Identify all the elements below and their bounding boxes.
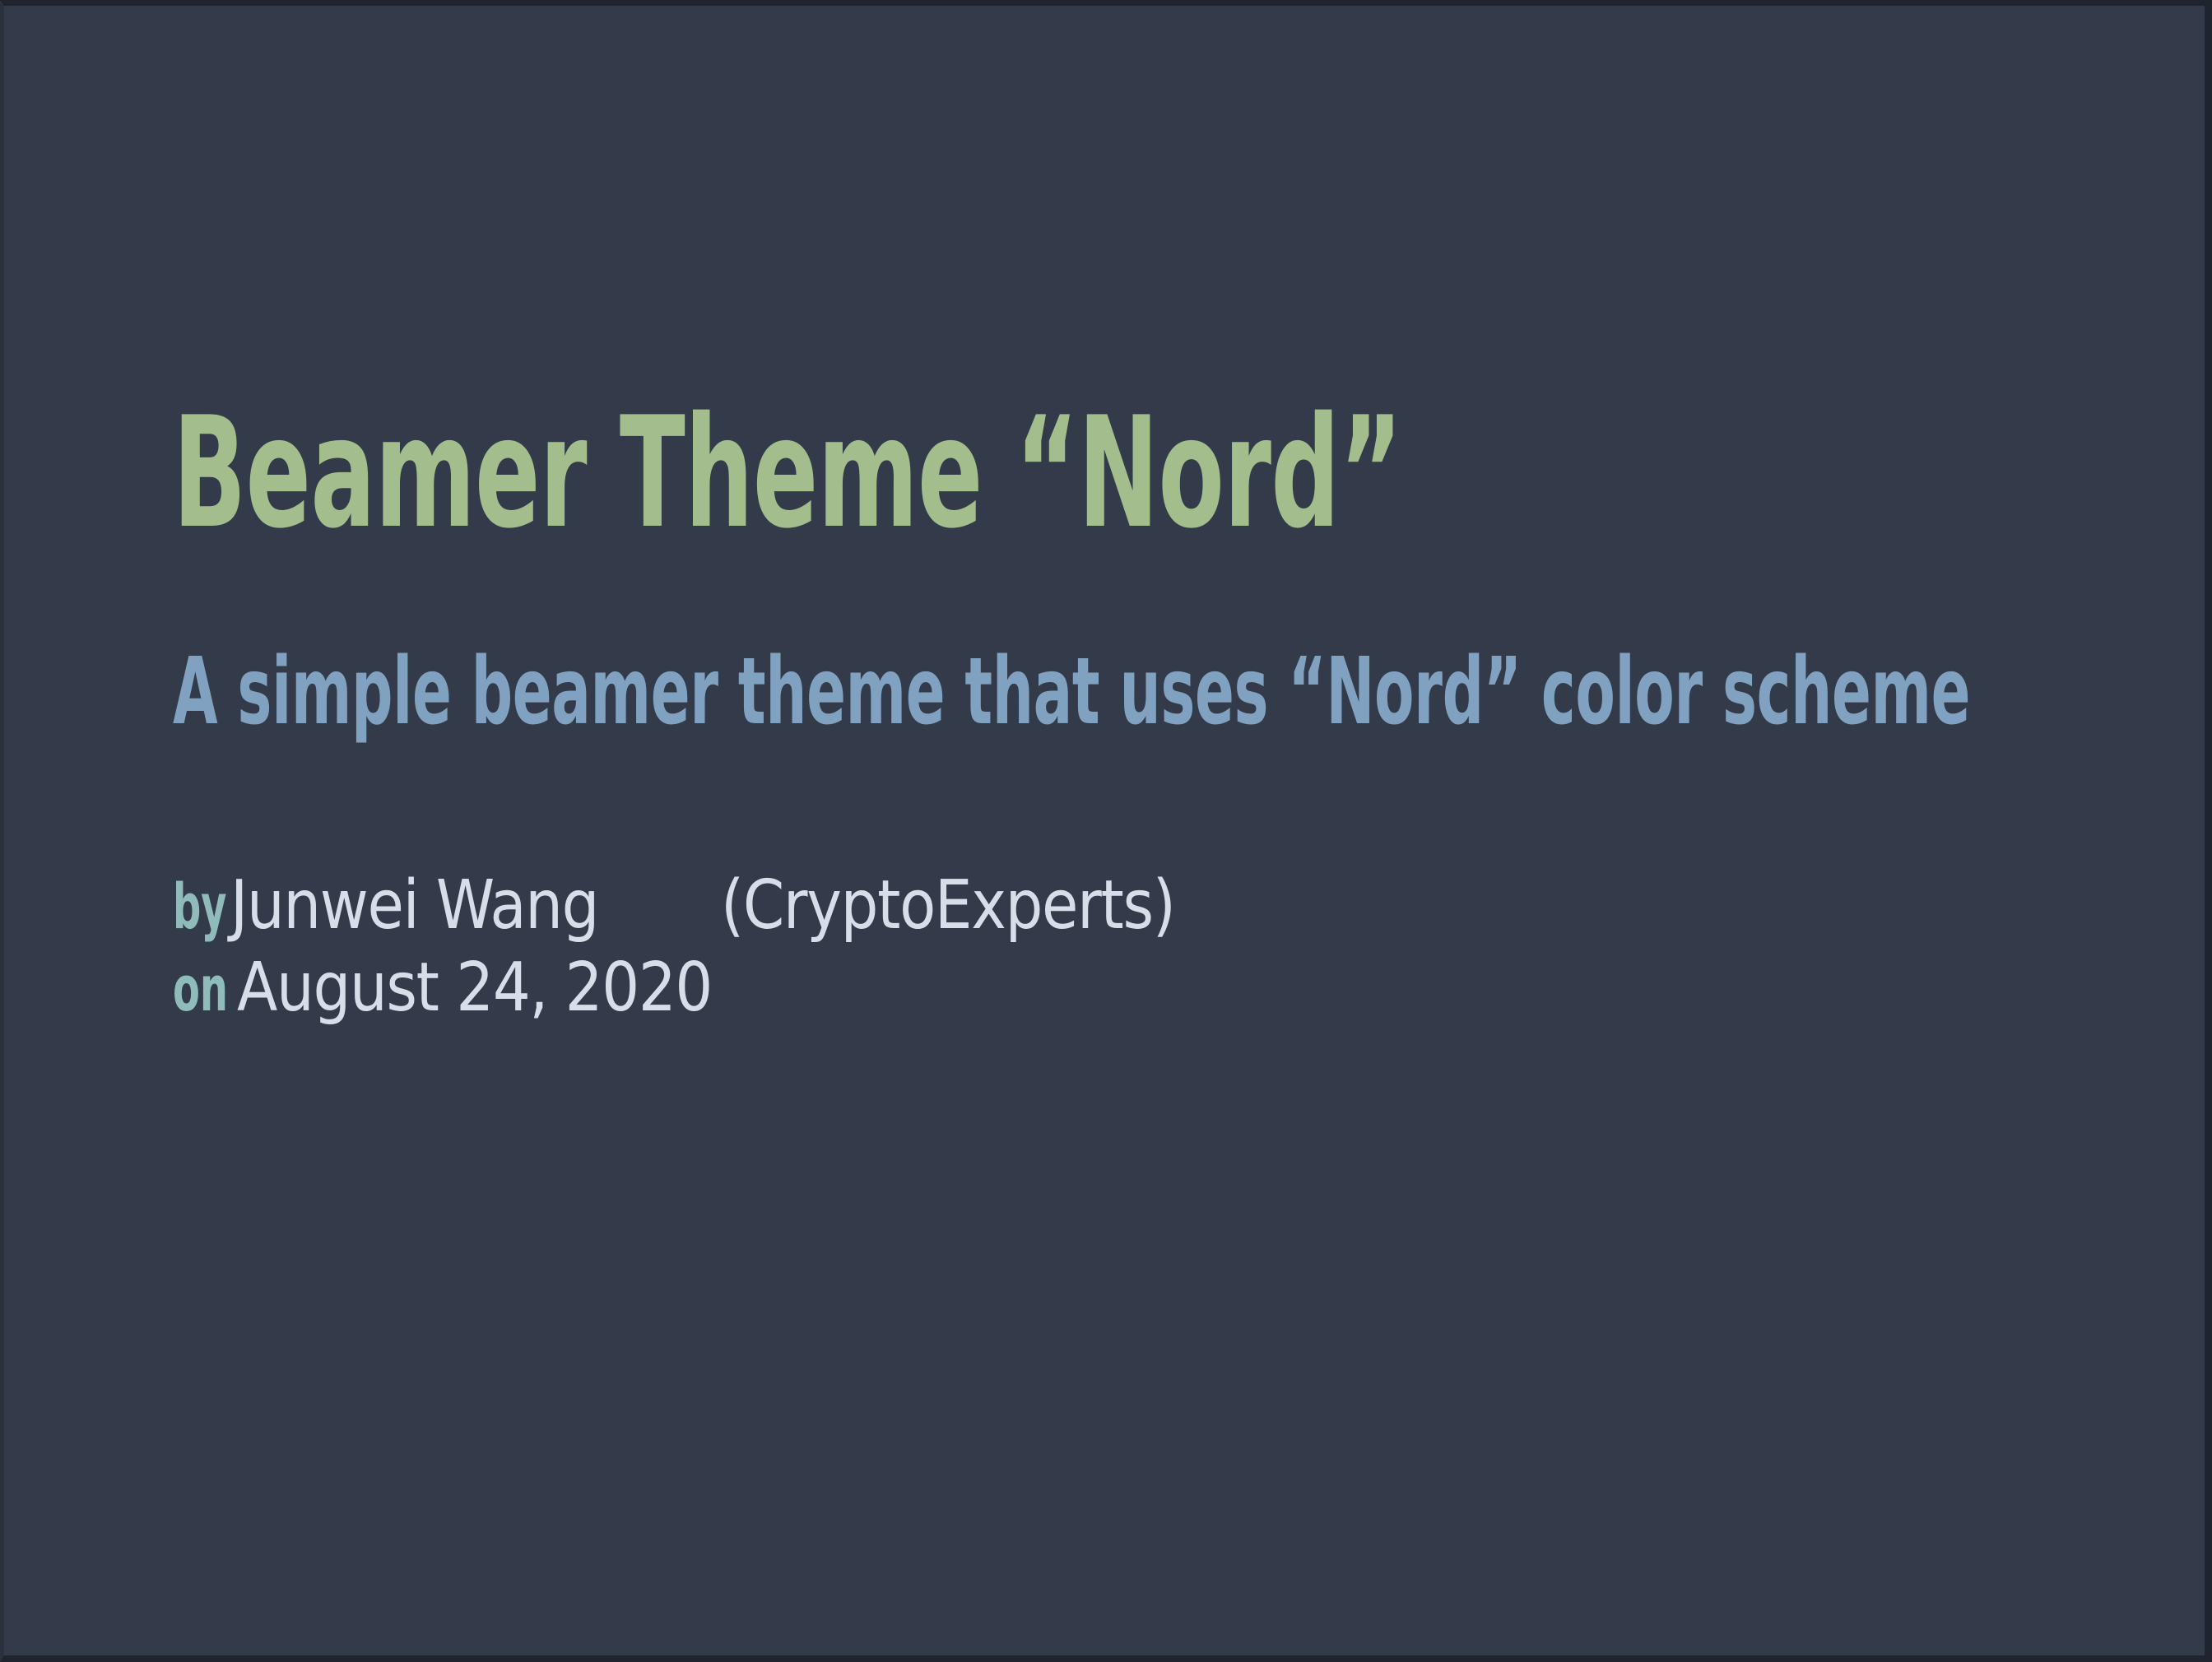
- date-keyword: on: [173, 948, 218, 1030]
- author-row: byJunwei Wang(CryptoExperts): [173, 865, 2066, 947]
- slide-canvas: Beamer Theme “Nord” A simple beamer them…: [0, 0, 2212, 1662]
- author-keyword: by: [173, 866, 213, 948]
- author-affiliation: (CryptoExperts): [721, 865, 1175, 947]
- page-title: Beamer Theme “Nord”: [173, 392, 1498, 554]
- title-block: Beamer Theme “Nord” A simple beamer them…: [173, 392, 2066, 1029]
- page-subtitle: A simple beamer theme that uses “Nord” c…: [173, 643, 1498, 741]
- metadata-block: byJunwei Wang(CryptoExperts) onAugust 24…: [173, 865, 2066, 1029]
- date-row: onAugust 24, 2020: [173, 947, 2066, 1029]
- date-value: August 24, 2020: [237, 947, 712, 1029]
- author-name: Junwei Wang: [230, 865, 598, 947]
